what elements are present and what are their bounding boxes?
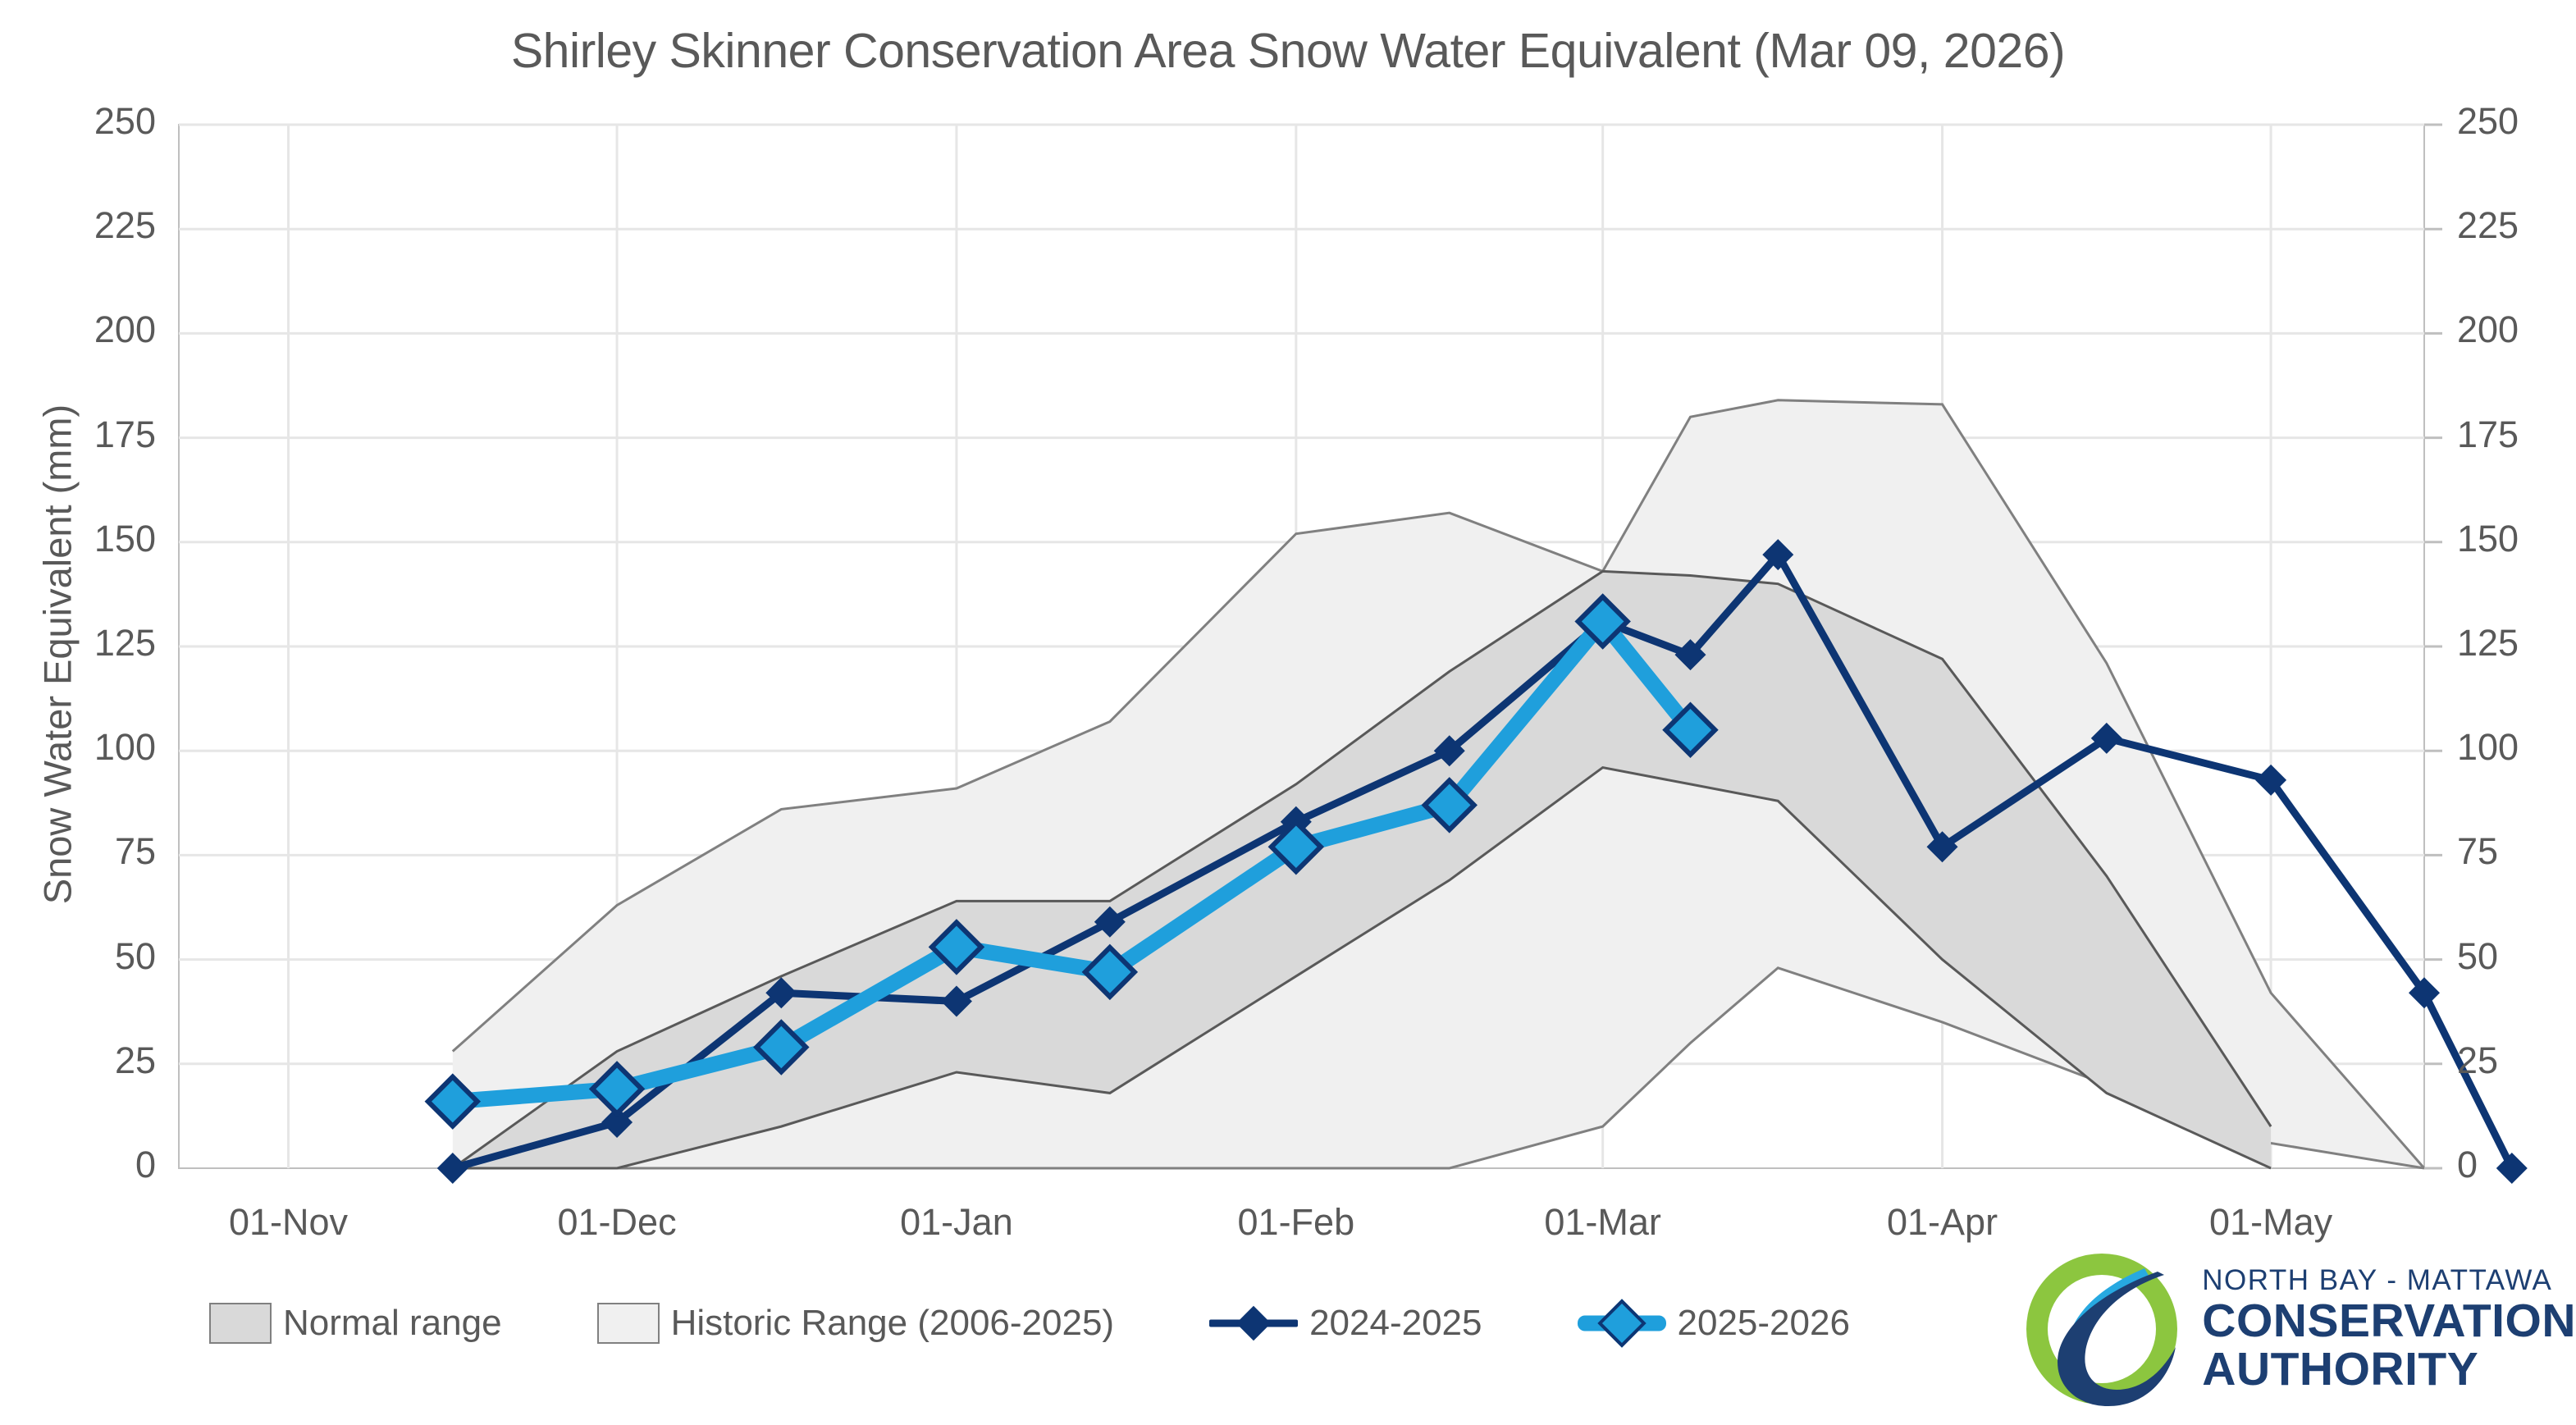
- y-axis-tick-right: 50: [2457, 935, 2576, 978]
- x-axis-tick: 01-Feb: [1165, 1201, 1427, 1244]
- logo-line-1: NORTH BAY - MATTAWA: [2202, 1266, 2576, 1295]
- x-axis-tick: 01-May: [2140, 1201, 2402, 1244]
- x-axis-tick: 01-Nov: [158, 1201, 420, 1244]
- legend-item-2024-2025[interactable]: 2024-2025: [1209, 1303, 1482, 1344]
- legend-label-2024-2025: 2024-2025: [1309, 1303, 1482, 1344]
- y-axis-tick-right: 125: [2457, 622, 2576, 665]
- normal-range-swatch: [209, 1303, 272, 1344]
- logo-line-2: CONSERVATION: [2202, 1298, 2576, 1345]
- x-axis-tick: 01-Apr: [1811, 1201, 2074, 1244]
- y-axis-tick-right: 75: [2457, 830, 2576, 873]
- conservation-authority-logo-icon: [2020, 1247, 2184, 1411]
- y-axis-tick-right: 200: [2457, 308, 2576, 351]
- y-axis-tick-right: 175: [2457, 413, 2576, 456]
- y-axis-tick-left: 50: [16, 935, 156, 978]
- chart-legend: Normal range Historic Range (2006-2025) …: [209, 1295, 1850, 1352]
- x-axis-tick: 01-Jan: [825, 1201, 1088, 1244]
- legend-label-normal-range: Normal range: [283, 1303, 502, 1344]
- swe-chart: Shirley Skinner Conservation Area Snow W…: [0, 0, 2576, 1425]
- x-axis-tick: 01-Mar: [1472, 1201, 1734, 1244]
- legend-item-normal-range[interactable]: Normal range: [209, 1303, 502, 1344]
- legend-label-historic-range: Historic Range (2006-2025): [671, 1303, 1115, 1344]
- y-axis-tick-left: 250: [16, 100, 156, 143]
- y-axis-tick-left: 25: [16, 1039, 156, 1082]
- y-axis-tick-right: 0: [2457, 1144, 2576, 1186]
- legend-item-historic-range[interactable]: Historic Range (2006-2025): [597, 1303, 1115, 1344]
- y-axis-tick-right: 250: [2457, 100, 2576, 143]
- legend-label-2025-2026: 2025-2026: [1678, 1303, 1850, 1344]
- y-axis-tick-left: 150: [16, 518, 156, 560]
- x-axis-tick: 01-Dec: [486, 1201, 748, 1244]
- y-axis-tick-left: 100: [16, 726, 156, 769]
- legend-line-2025-2026: [1578, 1303, 1666, 1344]
- historic-range-swatch: [597, 1303, 660, 1344]
- y-axis-tick-right: 150: [2457, 518, 2576, 560]
- y-axis-tick-left: 0: [16, 1144, 156, 1186]
- y-axis-tick-right: 100: [2457, 726, 2576, 769]
- y-axis-tick-left: 225: [16, 204, 156, 247]
- diamond-marker-icon: [1597, 1299, 1646, 1347]
- diamond-marker-icon: [1236, 1306, 1271, 1341]
- y-axis-tick-right: 25: [2457, 1039, 2576, 1082]
- legend-item-2025-2026[interactable]: 2025-2026: [1578, 1303, 1850, 1344]
- y-axis-tick-left: 200: [16, 308, 156, 351]
- y-axis-tick-right: 225: [2457, 204, 2576, 247]
- organization-logo: NORTH BAY - MATTAWA CONSERVATION AUTHORI…: [2020, 1247, 2576, 1411]
- y-axis-tick-left: 175: [16, 413, 156, 456]
- legend-line-2024-2025: [1209, 1303, 1298, 1344]
- y-axis-tick-left: 75: [16, 830, 156, 873]
- y-axis-tick-left: 125: [16, 622, 156, 665]
- logo-line-3: AUTHORITY: [2202, 1346, 2576, 1393]
